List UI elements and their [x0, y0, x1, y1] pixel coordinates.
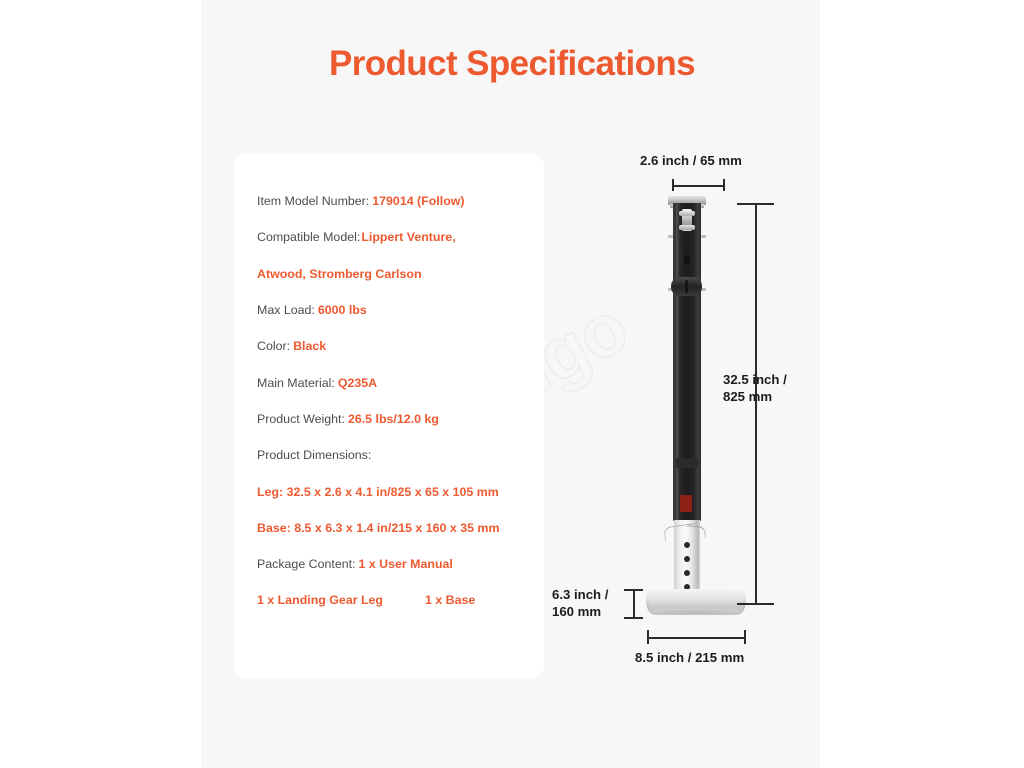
- dimension-tick-width-right: [744, 630, 746, 644]
- dimension-label-base-width: 8.5 inch / 215 mm: [635, 649, 744, 666]
- spec-value-package-item-base: 1 x Base: [425, 594, 475, 607]
- side-bolt-icon: [701, 235, 706, 238]
- spec-label-max-load: Max Load:: [257, 303, 315, 317]
- spec-row-main-material: Main Material:Q235A: [257, 377, 532, 390]
- spec-value-max-load: 6000 lbs: [318, 303, 367, 317]
- spec-label-main-material: Main Material:: [257, 376, 335, 390]
- dimension-tick-height-top: [737, 203, 774, 205]
- spec-value-base-dimensions: Base: 8.5 x 6.3 x 1.4 in/215 x 160 x 35 …: [257, 521, 499, 535]
- dimension-tick-top-right: [723, 179, 725, 191]
- spec-row-max-load: Max Load:6000 lbs: [257, 304, 532, 317]
- foot-shadow: [652, 610, 740, 615]
- product-spec-page: Melgo Product Specifications Item Model …: [0, 0, 1024, 768]
- brand-label-icon: [680, 495, 692, 512]
- page-title: Product Specifications: [0, 44, 1024, 84]
- dimension-tick-height-bottom: [737, 603, 774, 605]
- dimension-line-top-width: [672, 185, 724, 187]
- spec-label-product-weight: Product Weight:: [257, 412, 345, 426]
- spec-label-product-dimensions: Product Dimensions:: [257, 448, 371, 462]
- spec-row-leg-dimensions: Leg: 32.5 x 2.6 x 4.1 in/825 x 65 x 105 …: [257, 486, 532, 499]
- top-bolt-icon: [682, 209, 692, 231]
- spec-row-product-dimensions: Product Dimensions:: [257, 449, 532, 462]
- pull-pin-clip-icon: [686, 525, 707, 537]
- spec-label-item-model-number: Item Model Number:: [257, 194, 369, 208]
- dimension-tick-depth-top: [624, 589, 643, 591]
- spec-row-color: Color:Black: [257, 340, 532, 353]
- spec-label-color: Color:: [257, 339, 290, 353]
- side-bolt-icon: [668, 235, 673, 238]
- spec-label-package-content: Package Content:: [257, 557, 356, 571]
- spec-row-compatible-model-continued: Atwood, Stromberg Carlson: [257, 268, 532, 281]
- specifications-list: Item Model Number:179014 (Follow) Compat…: [257, 195, 532, 607]
- spec-label-compatible-model: Compatible Model:: [257, 230, 360, 244]
- spec-value-package-item-leg: 1 x Landing Gear Leg: [257, 594, 383, 607]
- adjustment-hole-icon: [684, 570, 690, 576]
- spec-row-compatible-model: Compatible Model:Lippert Venture,: [257, 231, 532, 244]
- spec-value-item-model-number: 179014 (Follow): [372, 194, 464, 208]
- spec-value-main-material: Q235A: [338, 376, 377, 390]
- dimension-tick-width-left: [647, 630, 649, 644]
- spec-row-package-content: Package Content:1 x User Manual: [257, 558, 532, 571]
- spec-value-compatible-model-line2: Atwood, Stromberg Carlson: [257, 267, 422, 281]
- spec-row-base-dimensions: Base: 8.5 x 6.3 x 1.4 in/215 x 160 x 35 …: [257, 522, 532, 535]
- dimension-tick-depth-bottom: [624, 617, 643, 619]
- spec-row-item-model-number: Item Model Number:179014 (Follow): [257, 195, 532, 208]
- adjustment-hole-icon: [684, 556, 690, 562]
- lower-bracket-icon: [676, 458, 698, 468]
- grip-handle-icon: [671, 277, 702, 296]
- dimension-label-top-width: 2.6 inch / 65 mm: [640, 152, 742, 169]
- spec-value-product-weight: 26.5 lbs/12.0 kg: [348, 412, 439, 426]
- spec-value-package-content: 1 x User Manual: [359, 557, 453, 571]
- dimension-line-base-width: [647, 637, 745, 639]
- spec-value-color: Black: [293, 339, 326, 353]
- spec-value-leg-dimensions: Leg: 32.5 x 2.6 x 4.1 in/825 x 65 x 105 …: [257, 485, 499, 499]
- spec-row-package-items: 1 x Landing Gear Leg 1 x Base: [257, 594, 532, 607]
- dimension-label-base-depth: 6.3 inch / 160 mm: [552, 586, 608, 621]
- dimension-tick-top-left: [672, 179, 674, 191]
- adjustment-hole-icon: [684, 542, 690, 548]
- outer-tube-icon: [673, 203, 701, 521]
- dimension-line-base-depth: [633, 589, 635, 618]
- specifications-card: Item Model Number:179014 (Follow) Compat…: [234, 154, 544, 678]
- spec-value-compatible-model-line1: Lippert Venture,: [361, 230, 455, 244]
- dimension-label-total-height: 32.5 inch / 825 mm: [723, 371, 787, 406]
- stud-icon: [684, 255, 690, 264]
- spec-row-product-weight: Product Weight:26.5 lbs/12.0 kg: [257, 413, 532, 426]
